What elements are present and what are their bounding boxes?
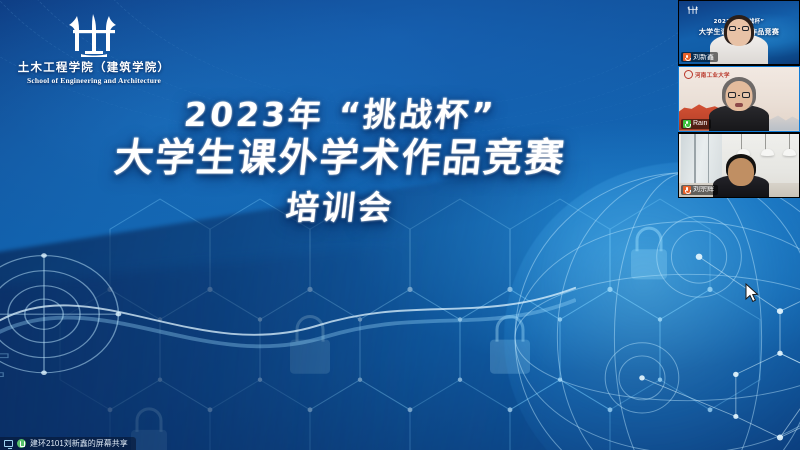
microphone-muted-icon xyxy=(683,186,691,194)
participant-name-badge: Rain xyxy=(681,119,711,129)
title-line-2: 大学生课外学术作品竞赛 xyxy=(0,135,683,183)
swirl-graphic xyxy=(0,248,200,437)
college-logo: 土木工程学院（建筑学院） School of Engineering and A… xyxy=(14,10,174,85)
college-name-en: School of Engineering and Architecture xyxy=(14,76,174,85)
college-name-cn: 土木工程学院（建筑学院） xyxy=(14,59,174,75)
participant-tile-1[interactable]: 2023年 “挑战杯” 大学生课外学术作品竞赛 刘新鑫 xyxy=(678,0,800,65)
participant-name: Rain xyxy=(693,120,707,127)
title-line-3: 培训会 xyxy=(0,187,682,230)
participant-tile-3[interactable]: 刘宗辉 xyxy=(678,133,800,198)
participant-tile-2[interactable]: 河南工业大学 Rain xyxy=(678,66,800,131)
slide-title: 2023年 “挑战杯” 大学生课外学术作品竞赛 培训会 xyxy=(0,96,680,229)
participant-name: 刘宗辉 xyxy=(693,186,714,193)
microphone-muted-icon xyxy=(683,53,691,61)
participant-video-strip: 2023年 “挑战杯” 大学生课外学术作品竞赛 刘新鑫 xyxy=(678,0,800,198)
participant-name-badge: 刘宗辉 xyxy=(681,185,718,195)
title-line-1: 2023年 “挑战杯” xyxy=(0,96,682,135)
microphone-active-icon xyxy=(683,120,691,128)
participant-name-badge: 刘新鑫 xyxy=(681,52,718,62)
monitor-icon xyxy=(4,440,13,447)
screen-share-indicator: 建环2101刘新鑫的屏幕共享 xyxy=(0,437,136,450)
screen-share-label: 建环2101刘新鑫的屏幕共享 xyxy=(30,440,128,448)
hn-monogram-icon xyxy=(59,10,129,58)
screen-share-icon xyxy=(17,439,26,448)
screen-share-viewport: 土木工程学院（建筑学院） School of Engineering and A… xyxy=(0,0,800,450)
participant-name: 刘新鑫 xyxy=(693,54,714,61)
